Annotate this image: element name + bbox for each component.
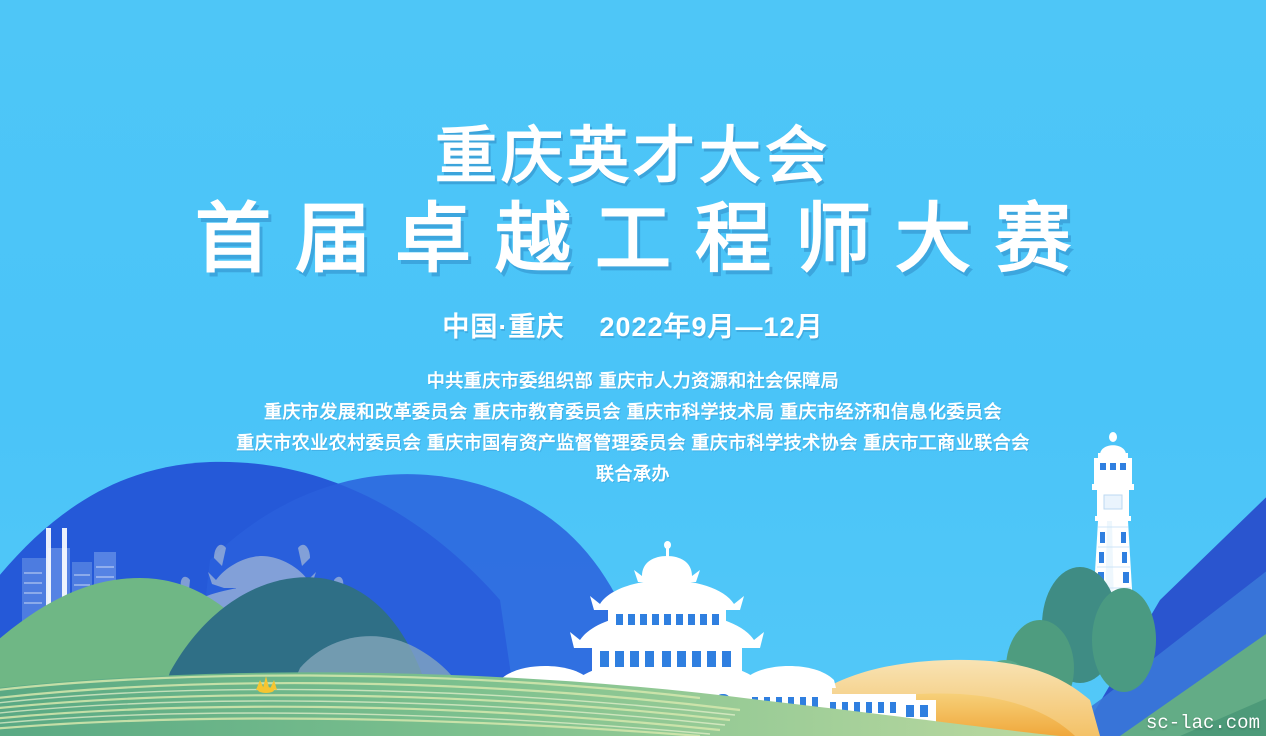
organizer-role-label: 联合承办 [0,459,1266,490]
organizer-line: 中共重庆市委组织部 重庆市人力资源和社会保障局 [0,366,1266,397]
event-dates: 2022年9月—12月 [599,312,823,342]
organizer-line: 重庆市农业农村委员会 重庆市国有资产监督管理委员会 重庆市科学技术协会 重庆市工… [0,428,1266,459]
event-meta: 中国·重庆 2022年9月—12月 [0,281,1266,344]
poster-canvas: 重庆英才大会 首届卓越工程师大赛 中国·重庆 2022年9月—12月 中共重庆市… [0,0,1266,736]
organizer-line: 重庆市发展和改革委员会 重庆市教育委员会 重庆市科学技术局 重庆市经济和信息化委… [0,397,1266,428]
page-subtitle: 首届卓越工程师大赛 [0,189,1266,281]
organizer-list: 中共重庆市委组织部 重庆市人力资源和社会保障局 重庆市发展和改革委员会 重庆市教… [0,344,1266,490]
poster-text-block: 重庆英才大会 首届卓越工程师大赛 中国·重庆 2022年9月—12月 中共重庆市… [0,0,1266,490]
page-title: 重庆英才大会 [0,0,1266,189]
site-watermark: sc-lac.com [1146,712,1260,734]
event-location: 中国·重庆 [442,312,564,342]
